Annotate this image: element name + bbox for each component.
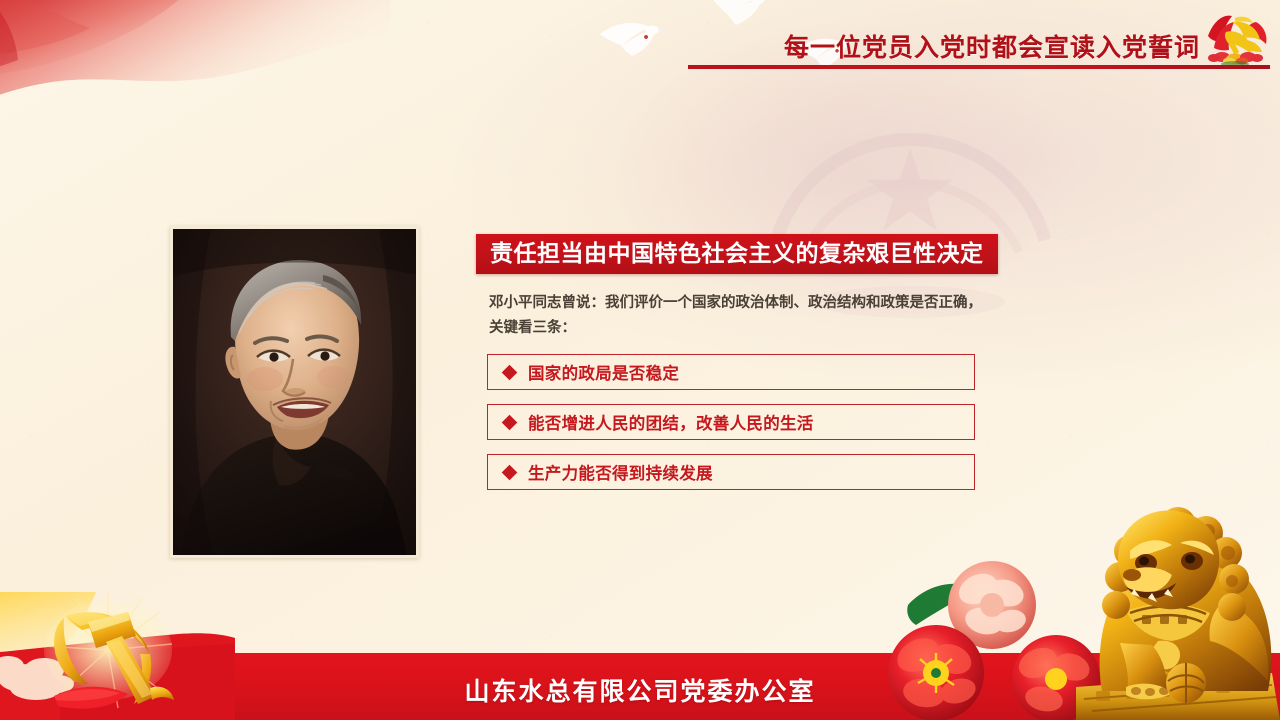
section-title-text: 责任担当由中国特色社会主义的复杂艰巨性决定	[490, 241, 984, 265]
bullet-item-2[interactable]: 能否增进人民的团结，改善人民的生活	[487, 404, 975, 440]
portrait-deng-xiaoping	[173, 229, 416, 555]
bullet-item-1[interactable]: 国家的政局是否稳定	[487, 354, 975, 390]
slide-header: 每一位党员入党时都会宣读入党誓词	[690, 12, 1270, 74]
national-emblem-watermark	[745, 70, 1075, 320]
header-title: 每一位党员入党时都会宣读入党誓词	[690, 28, 1200, 64]
bullet-list: 国家的政局是否稳定 能否增进人民的团结，改善人民的生活 生产力能否得到持续发展	[487, 354, 975, 490]
footer-organization-label: 山东水总有限公司党委办公室	[0, 672, 1280, 708]
red-flag-wash-decoration	[0, 0, 390, 120]
diamond-bullet-icon	[502, 364, 518, 380]
bullet-item-2-label: 能否增进人民的团结，改善人民的生活	[528, 410, 814, 434]
bullet-item-3-label: 生产力能否得到持续发展	[528, 460, 713, 484]
slide-canvas: 每一位党员入党时都会宣读入党誓词	[0, 0, 1280, 720]
diamond-bullet-icon	[502, 464, 518, 480]
header-divider-rule	[688, 65, 1270, 69]
diamond-bullet-icon	[502, 414, 518, 430]
bullet-item-3[interactable]: 生产力能否得到持续发展	[487, 454, 975, 490]
bullet-item-1-label: 国家的政局是否稳定	[528, 360, 679, 384]
lead-paragraph: 邓小平同志曾说：我们评价一个国家的政治体制、政治结构和政策是否正确，关键看三条：	[489, 291, 989, 341]
party-emblem-flags-flowers-icon	[1202, 10, 1272, 68]
section-title-banner: 责任担当由中国特色社会主义的复杂艰巨性决定	[476, 234, 998, 274]
portrait-frame	[170, 226, 419, 558]
